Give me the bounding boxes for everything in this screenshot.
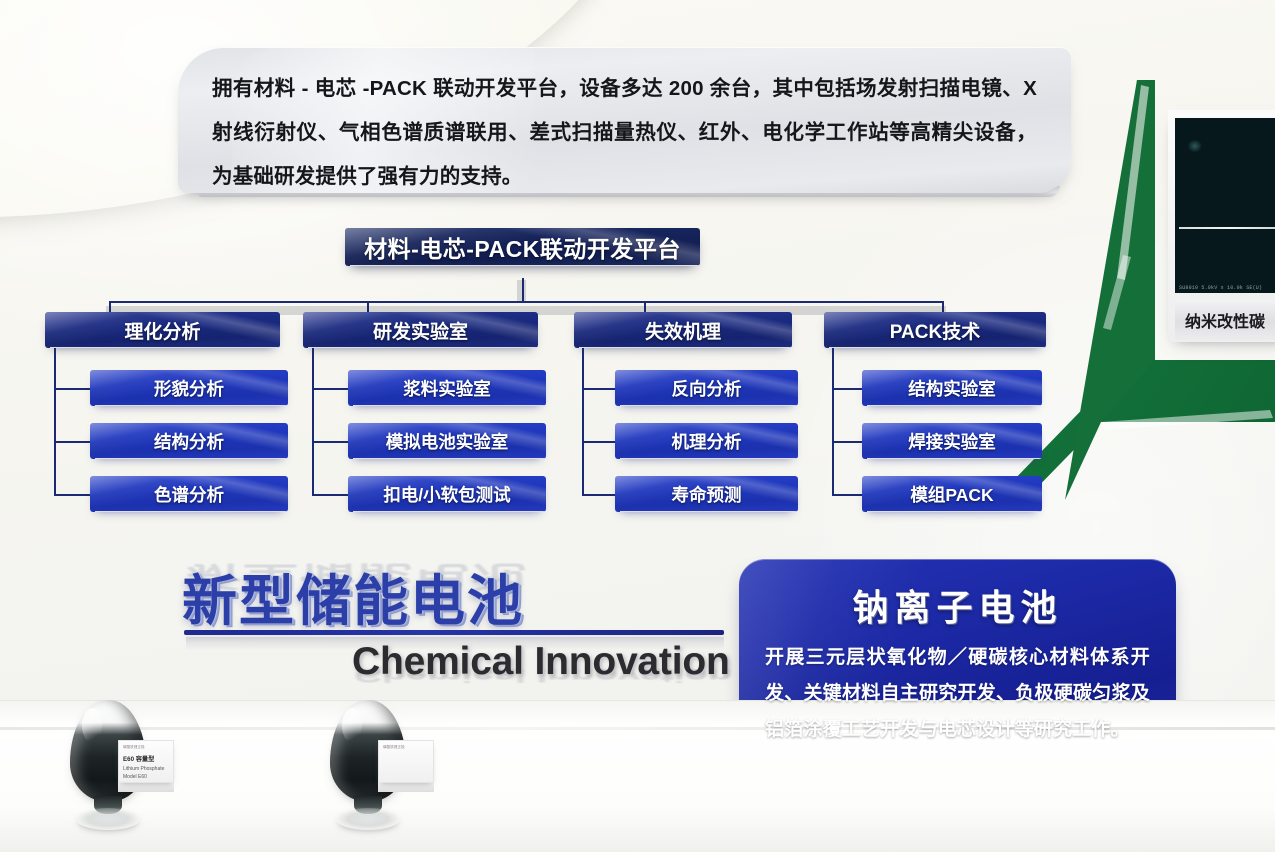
- org-root-label: 材料-电芯-PACK联动开发平台: [364, 230, 681, 264]
- org-leaf-node-2-0[interactable]: 反向分析: [615, 370, 798, 406]
- statement-panel: 拥有材料 - 电芯 -PACK 联动开发平台，设备多达 200 余台，其中包括场…: [178, 47, 1071, 193]
- leaf-1-0-plate: [353, 405, 546, 406]
- sem-scale-bar: [1179, 227, 1275, 229]
- specimen-card-stand-0: [118, 783, 174, 792]
- tick-2-1: [582, 441, 615, 443]
- tick-2-0: [582, 388, 615, 390]
- page-title-en: Chemical Innovation: [352, 640, 730, 684]
- org-bus-line: [109, 301, 944, 303]
- org-chart: 材料-电芯-PACK联动开发平台 理化分析 形貌分析 结构分析: [34, 228, 1044, 528]
- org-leaf-label-0-1: 结构分析: [154, 429, 224, 454]
- leaf-2-0-plate: [620, 405, 798, 406]
- org-leaf-label-1-2: 扣电/小软包测试: [383, 482, 510, 507]
- header-2-plate: [579, 347, 792, 348]
- exhibition-wall-scene: 拥有材料 - 电芯 -PACK 联动开发平台，设备多达 200 余台，其中包括场…: [0, 0, 1275, 852]
- leaf-1-1-plate: [353, 458, 546, 459]
- tick-3-0: [832, 388, 862, 390]
- sodium-panel-body: 开展三元层状氧化物／硬碳核心材料体系开发、关键材料自主研究开发、负极硬碳匀浆及铝…: [765, 640, 1150, 748]
- leaf-3-0-plate: [867, 405, 1042, 406]
- tick-1-0: [312, 388, 348, 390]
- specimen-card-0-line3: Lithium Phosphate: [123, 765, 170, 773]
- org-leaf-label-0-2: 色谱分析: [154, 482, 224, 507]
- org-leaf-label-0-0: 形貌分析: [154, 376, 224, 401]
- org-leaf-node-3-1[interactable]: 焊接实验室: [862, 423, 1042, 459]
- tick-3-2: [832, 494, 862, 496]
- specimen-card-stand-1: [378, 783, 434, 792]
- page-title-cn: 新型储能电池: [182, 556, 524, 636]
- sem-micrograph: SU8010 5.0kV x 10.0k SE(U): [1175, 118, 1275, 293]
- org-header-label-1: 研发实验室: [373, 317, 468, 344]
- org-leaf-node-0-0[interactable]: 形貌分析: [90, 370, 288, 406]
- header-1-plate: [308, 347, 538, 348]
- header-0-plate: [50, 347, 280, 348]
- tick-1-2: [312, 494, 348, 496]
- org-leaf-node-0-1[interactable]: 结构分析: [90, 423, 288, 459]
- sodium-panel-title: 钠离子电池: [765, 579, 1150, 631]
- statement-text: 拥有材料 - 电芯 -PACK 联动开发平台，设备多达 200 余台，其中包括场…: [212, 67, 1037, 199]
- org-header-label-2: 失效机理: [645, 317, 721, 344]
- specimen-card-0-line1: 磷酸铁锂正极: [123, 744, 170, 750]
- org-leaf-node-2-1[interactable]: 机理分析: [615, 423, 798, 459]
- leaf-0-2-plate: [95, 511, 288, 512]
- tick-1-1: [312, 441, 348, 443]
- tick-2-2: [582, 494, 615, 496]
- org-header-label-3: PACK技术: [890, 317, 980, 344]
- specimen-base-0: [76, 808, 140, 830]
- org-leaf-node-2-2[interactable]: 寿命预测: [615, 476, 798, 512]
- specimen-card-0-line4: Model E60: [123, 773, 170, 781]
- sem-caption: 纳米改性碳: [1175, 300, 1275, 340]
- org-root-node[interactable]: 材料-电芯-PACK联动开发平台: [345, 228, 700, 266]
- org-leaf-label-3-2: 模组PACK: [910, 482, 993, 507]
- spine-col-2: [582, 348, 584, 496]
- org-leaf-label-2-1: 机理分析: [672, 429, 742, 454]
- leaf-3-2-plate: [867, 511, 1042, 512]
- leaf-0-0-plate: [95, 405, 288, 406]
- specimen-base-1: [336, 808, 400, 830]
- root-trunk: [522, 278, 524, 302]
- leaf-2-2-plate: [620, 511, 798, 512]
- org-leaf-label-2-2: 寿命预测: [672, 482, 742, 507]
- spine-col-1: [312, 348, 314, 496]
- specimen-card-1-line1: 磷酸铁锂正极: [383, 744, 430, 750]
- leaf-3-1-plate: [867, 458, 1042, 459]
- org-leaf-node-1-2[interactable]: 扣电/小软包测试: [348, 476, 546, 512]
- org-leaf-label-1-0: 浆料实验室: [403, 376, 491, 401]
- org-leaf-node-0-2[interactable]: 色谱分析: [90, 476, 288, 512]
- spine-col-0: [54, 348, 56, 496]
- org-header-node-2[interactable]: 失效机理: [574, 312, 792, 348]
- tick-0-2: [54, 494, 90, 496]
- tick-0-1: [54, 441, 90, 443]
- sem-meta-text: SU8010 5.0kV x 10.0k SE(U): [1179, 285, 1275, 291]
- leaf-0-1-plate: [95, 458, 288, 459]
- header-3-plate: [829, 347, 1046, 348]
- org-leaf-node-3-2[interactable]: 模组PACK: [862, 476, 1042, 512]
- sem-image-frame: SU8010 5.0kV x 10.0k SE(U) 纳米改性碳: [1168, 110, 1275, 342]
- org-leaf-label-1-1: 模拟电池实验室: [386, 429, 509, 454]
- org-header-node-0[interactable]: 理化分析: [45, 312, 280, 348]
- tick-3-1: [832, 441, 862, 443]
- specimen-card-1: 磷酸铁锂正极: [378, 740, 434, 783]
- org-header-node-3[interactable]: PACK技术: [824, 312, 1046, 348]
- org-header-node-1[interactable]: 研发实验室: [303, 312, 538, 348]
- tick-0-0: [54, 388, 90, 390]
- org-leaf-node-1-1[interactable]: 模拟电池实验室: [348, 423, 546, 459]
- specimen-card-0-line2: E60 容量型: [123, 755, 170, 765]
- spine-col-3: [832, 348, 834, 496]
- leaf-2-1-plate: [620, 458, 798, 459]
- root-node-plate: [350, 265, 700, 266]
- org-leaf-node-3-0[interactable]: 结构实验室: [862, 370, 1042, 406]
- org-leaf-label-3-1: 焊接实验室: [908, 429, 996, 454]
- org-header-label-0: 理化分析: [124, 317, 200, 344]
- title-rule: [184, 630, 724, 635]
- org-leaf-label-3-0: 结构实验室: [908, 376, 996, 401]
- org-leaf-label-2-0: 反向分析: [672, 376, 742, 401]
- specimen-card-0: 磷酸铁锂正极 E60 容量型 Lithium Phosphate Model E…: [118, 740, 174, 783]
- leaf-1-2-plate: [353, 511, 546, 512]
- org-leaf-node-1-0[interactable]: 浆料实验室: [348, 370, 546, 406]
